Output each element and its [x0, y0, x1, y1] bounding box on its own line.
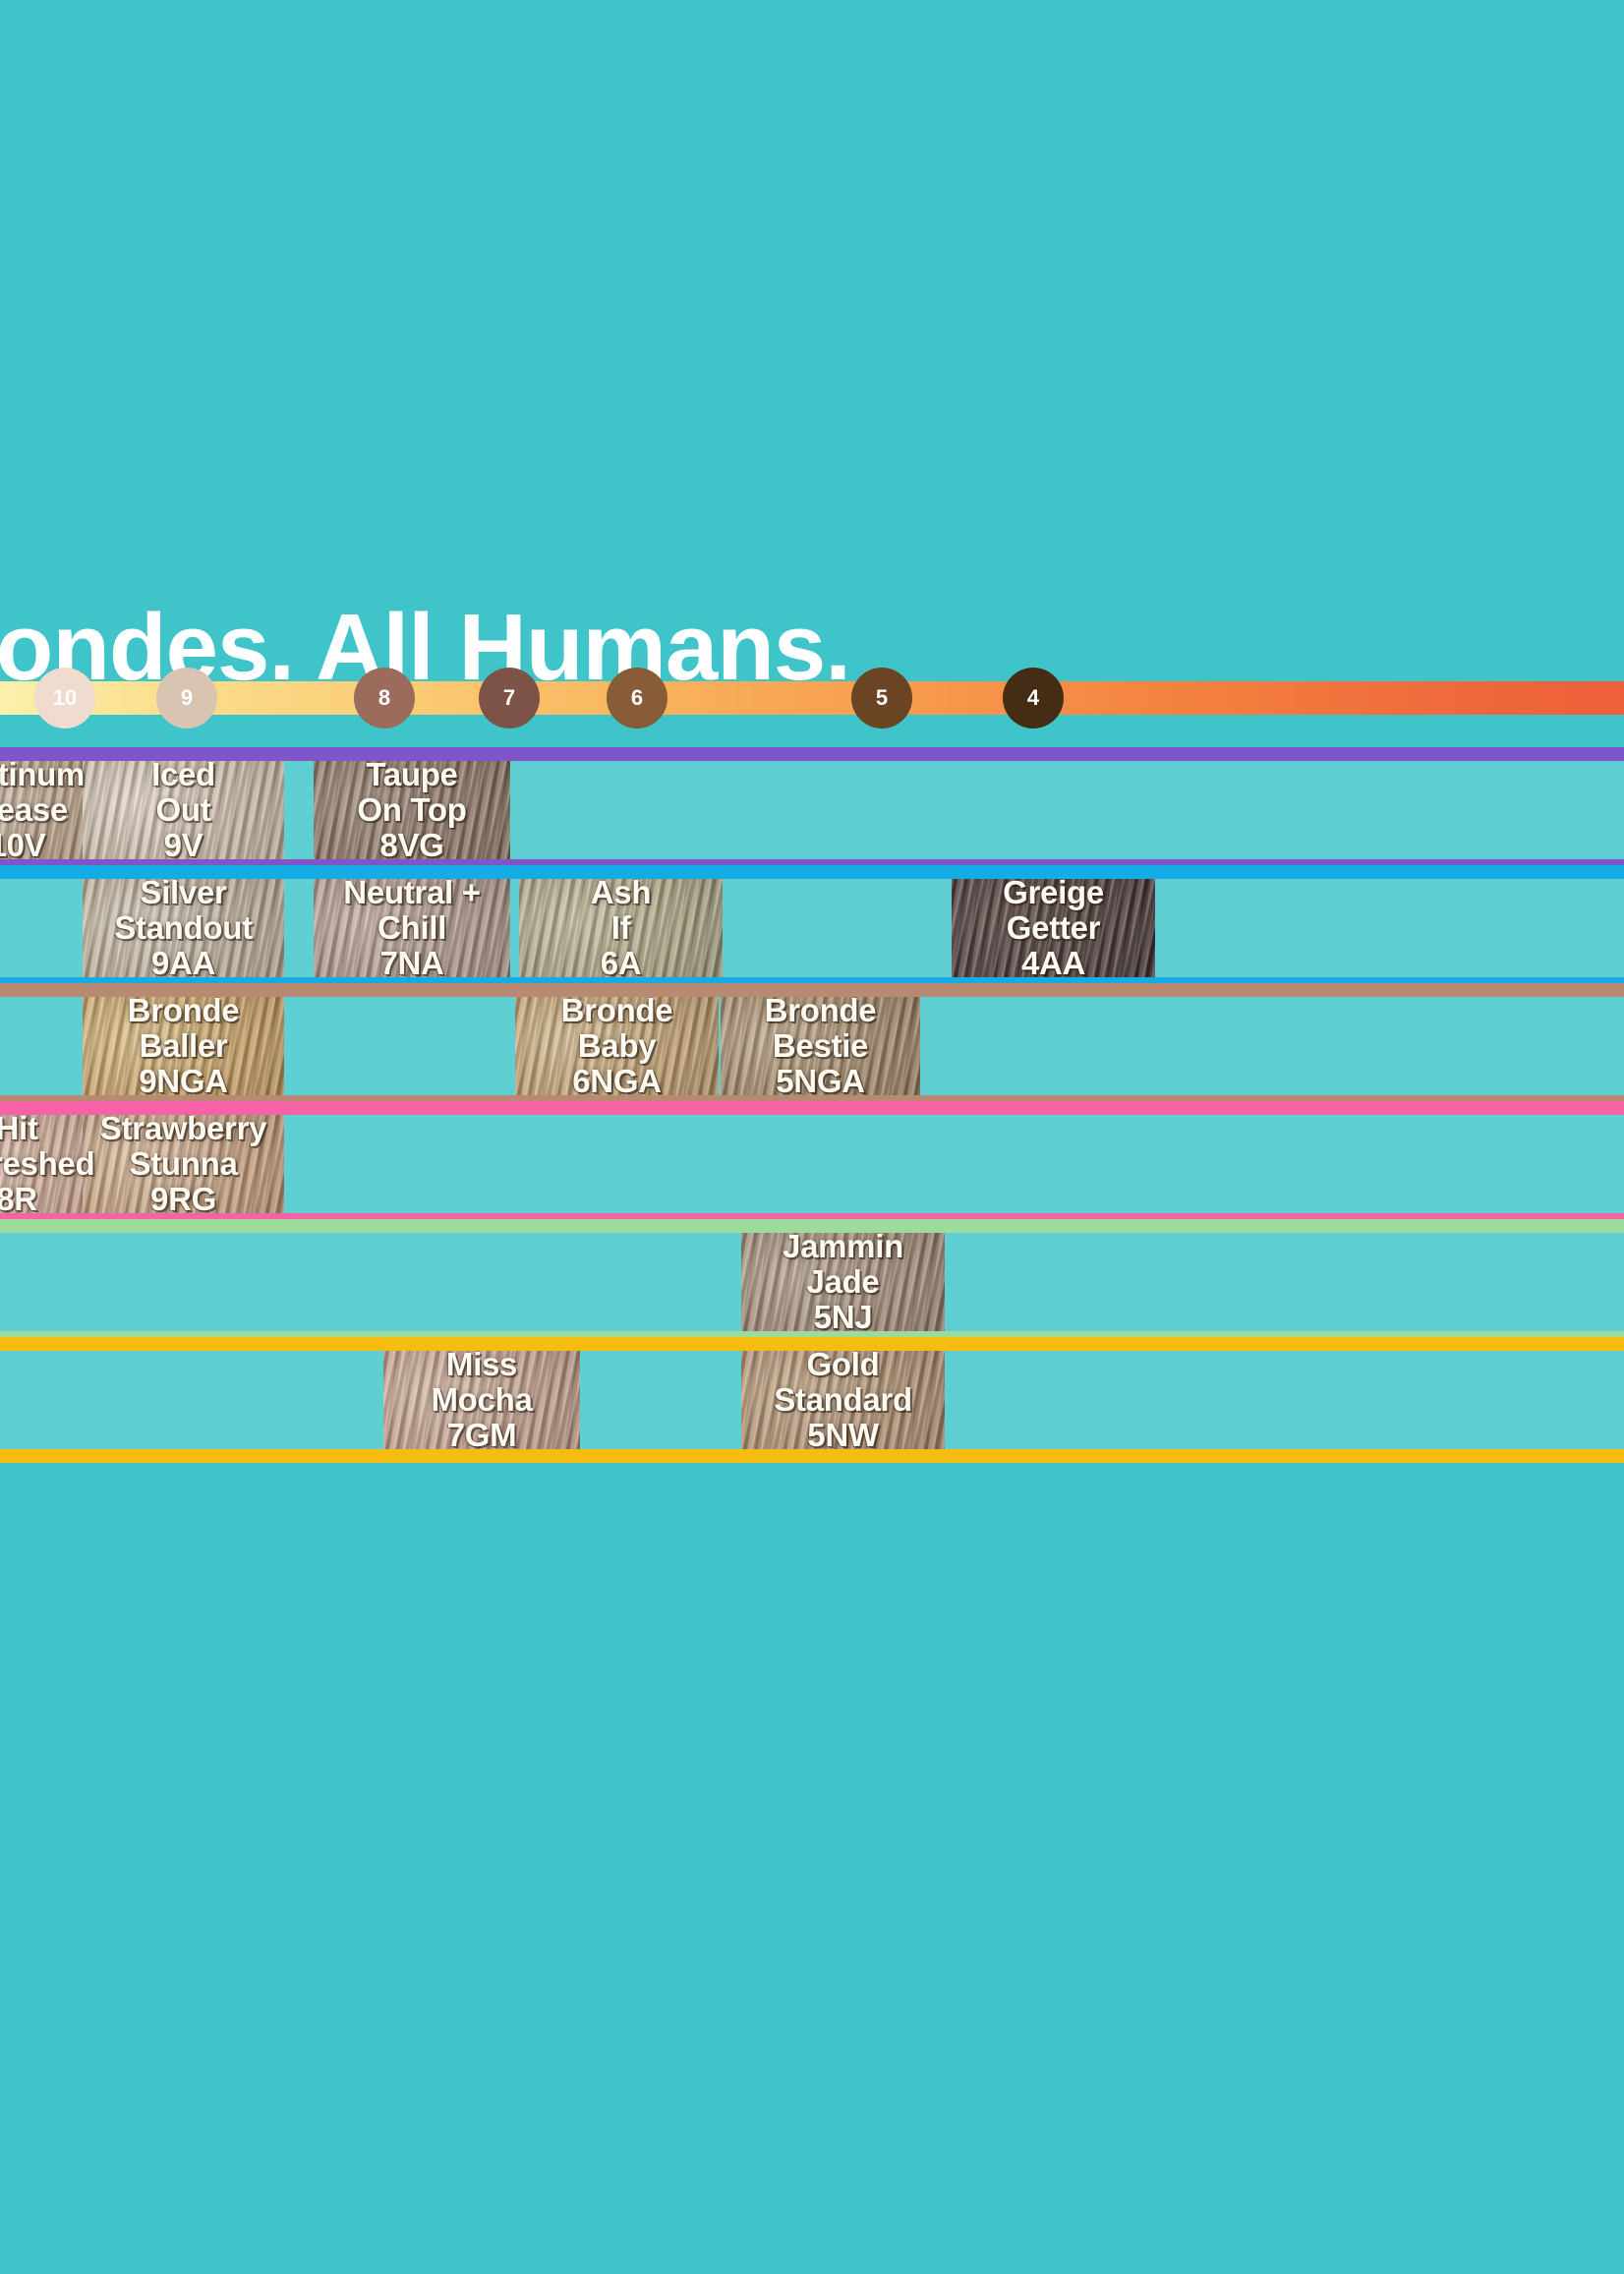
swatch-name-line: Ash	[591, 879, 651, 910]
swatch-code: 7GM	[431, 1418, 532, 1449]
swatch-label: MissMocha7GM	[427, 1351, 536, 1449]
row-top-bar	[0, 865, 1624, 879]
swatch-name-line: Taupe	[357, 761, 466, 792]
row-top-bar	[0, 747, 1624, 761]
swatch-code: 8VG	[357, 828, 466, 859]
row-top-bar	[0, 1101, 1624, 1115]
row-top-bar	[0, 1337, 1624, 1351]
swatch-name-line: On Top	[357, 792, 466, 828]
level-dot-8: 8	[354, 668, 415, 729]
swatch-name-line: Silver	[114, 879, 253, 910]
swatch-label: JamminJade5NJ	[779, 1233, 907, 1331]
swatch-code: 9V	[151, 828, 215, 859]
swatch-label: BrondeBaby6NGA	[557, 997, 677, 1095]
swatch-name-line: Jammin	[783, 1233, 903, 1264]
swatch-row-pink-row: HitRefreshed8RStrawberryStunna9RG	[0, 1101, 1624, 1227]
swatch-label: BrondeBaller9NGA	[124, 997, 244, 1095]
level-dot-10: 10	[34, 668, 95, 729]
swatch-4AA[interactable]: GreigeGetter4AA	[952, 879, 1155, 977]
swatch-9AA[interactable]: SilverStandout9AA	[83, 879, 284, 977]
swatch-label: IcedOut9V	[147, 761, 219, 859]
level-gradient-track	[0, 681, 1624, 715]
level-dot-7: 7	[479, 668, 540, 729]
swatch-name-line: Hit	[0, 1115, 94, 1146]
swatch-row-tan-row: BrondeBaller9NGABrondeBaby6NGABrondeBest…	[0, 983, 1624, 1109]
swatch-name-line: Getter	[1003, 910, 1104, 946]
swatch-name-line: Chill	[343, 910, 480, 946]
swatch-6NGA[interactable]: BrondeBaby6NGA	[515, 997, 719, 1095]
swatch-name-line: Baby	[561, 1028, 673, 1064]
swatch-name-line: Baller	[128, 1028, 240, 1064]
swatch-label: Neutral +Chill7NA	[339, 879, 484, 977]
row-top-bar	[0, 1219, 1624, 1233]
swatch-7GM[interactable]: MissMocha7GM	[383, 1351, 580, 1449]
row-bottom-bar	[0, 1449, 1624, 1463]
level-dot-5: 5	[851, 668, 912, 729]
swatch-code: 9NGA	[128, 1064, 240, 1095]
swatch-label: StrawberryStunna9RG	[96, 1115, 270, 1213]
swatch-name-line: Mocha	[431, 1382, 532, 1418]
swatch-8R[interactable]: HitRefreshed8R	[0, 1115, 110, 1213]
swatch-5NW[interactable]: GoldStandard5NW	[741, 1351, 945, 1449]
swatch-name-line: Neutral +	[343, 879, 480, 910]
swatch-name-line: Greige	[1003, 879, 1104, 910]
swatch-label: SilverStandout9AA	[110, 879, 257, 977]
swatch-5NGA[interactable]: BrondeBestie5NGA	[721, 997, 920, 1095]
swatch-8VG[interactable]: TaupeOn Top8VG	[314, 761, 510, 859]
swatch-name-line: Bestie	[765, 1028, 877, 1064]
hair-level-scale: 10987654	[0, 681, 1624, 715]
swatch-name-line: Miss	[431, 1351, 532, 1382]
swatch-row-violet-row: PlatinumPlease10VIcedOut9VTaupeOn Top8VG	[0, 747, 1624, 873]
swatch-code: 6NGA	[561, 1064, 673, 1095]
row-top-bar	[0, 983, 1624, 997]
swatch-label: BrondeBestie5NGA	[761, 997, 881, 1095]
swatch-code: 5NGA	[765, 1064, 877, 1095]
swatch-6A[interactable]: AshIf6A	[519, 879, 723, 977]
level-dot-9: 9	[156, 668, 217, 729]
hair-color-level-poster: londes. All Humans. 10987654 PlatinumPle…	[0, 0, 1624, 2274]
swatch-5NJ[interactable]: JamminJade5NJ	[741, 1233, 945, 1331]
swatch-name-line: Bronde	[561, 997, 673, 1028]
swatch-name-line: Standout	[114, 910, 253, 946]
swatch-9RG[interactable]: StrawberryStunna9RG	[83, 1115, 284, 1213]
swatch-name-line: Gold	[774, 1351, 912, 1382]
swatch-code: 8R	[0, 1182, 94, 1213]
swatch-row-blue-row: SilverStandout9AANeutral +Chill7NAAshIf6…	[0, 865, 1624, 991]
swatch-code: 7NA	[343, 946, 480, 977]
swatch-7NA[interactable]: Neutral +Chill7NA	[314, 879, 510, 977]
swatch-code: 5NW	[774, 1418, 912, 1449]
swatch-name-line: Bronde	[765, 997, 877, 1028]
swatch-name-line: Bronde	[128, 997, 240, 1028]
swatch-name-line: Strawberry	[100, 1115, 266, 1146]
swatch-name-line: Please	[0, 792, 85, 828]
swatch-name-line: Out	[151, 792, 215, 828]
swatch-row-green-row: JamminJade5NJ	[0, 1219, 1624, 1345]
swatch-label: HitRefreshed8R	[0, 1115, 98, 1213]
swatch-name-line: If	[591, 910, 651, 946]
swatch-label: AshIf6A	[587, 879, 655, 977]
swatch-code: 9AA	[114, 946, 253, 977]
swatch-name-line: Standard	[774, 1382, 912, 1418]
swatch-label: GoldStandard5NW	[770, 1351, 916, 1449]
swatch-name-line: Iced	[151, 761, 215, 792]
level-dot-6: 6	[607, 668, 667, 729]
swatch-code: 6A	[591, 946, 651, 977]
swatch-label: GreigeGetter4AA	[999, 879, 1108, 977]
level-dot-4: 4	[1003, 668, 1064, 729]
swatch-name-line: Platinum	[0, 761, 85, 792]
swatch-code: 4AA	[1003, 946, 1104, 977]
swatch-code: 5NJ	[783, 1300, 903, 1331]
swatch-label: TaupeOn Top8VG	[353, 761, 470, 859]
swatch-9NGA[interactable]: BrondeBaller9NGA	[83, 997, 284, 1095]
swatch-name-line: Refreshed	[0, 1146, 94, 1182]
swatch-code: 9RG	[100, 1182, 266, 1213]
swatch-code: 10V	[0, 828, 85, 859]
swatch-9V[interactable]: IcedOut9V	[83, 761, 284, 859]
swatch-name-line: Jade	[783, 1264, 903, 1300]
swatch-name-line: Stunna	[100, 1146, 266, 1182]
swatch-label: PlatinumPlease10V	[0, 761, 88, 859]
swatch-row-gold-row: MissMocha7GMGoldStandard5NW	[0, 1337, 1624, 1463]
